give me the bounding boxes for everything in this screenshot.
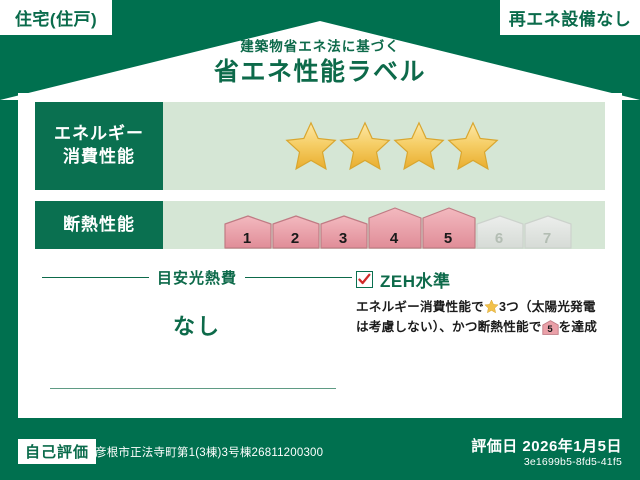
star-icon (447, 120, 499, 172)
insulation-level-number: 5 (421, 231, 475, 246)
badge-renewable-energy: 再エネ設備なし (500, 0, 640, 35)
zeh-star-count: 3つ（太陽光発電 (499, 300, 596, 314)
insulation-level-number: 6 (475, 231, 523, 246)
zeh-desc-part3: を達成 (559, 320, 597, 334)
house-icon-inline: 5 (542, 320, 559, 335)
row-energy-label: エネルギー 消費性能 (35, 102, 163, 190)
row-energy-body (163, 102, 605, 190)
insulation-level-number: 3 (319, 231, 367, 246)
zeh-desc-part2: は考慮しない）、かつ断熱性能で (356, 320, 542, 334)
star-icon-inline (484, 299, 499, 314)
insulation-level-2: 2 (271, 215, 319, 249)
zeh-description: エネルギー消費性能で3つ（太陽光発電は考慮しない）、かつ断熱性能で5を達成 (356, 298, 608, 337)
badge-building-type: 住宅(住戸) (0, 0, 112, 35)
cost-rule-right (245, 277, 352, 278)
insulation-level-7: 7 (523, 215, 571, 249)
utility-cost-value: なし (42, 309, 352, 341)
lower-section: 目安光熱費 なし ZEH水準 エネルギー消費性能で3つ（太陽光発電は考慮しない）… (18, 263, 622, 418)
insulation-level-number: 2 (271, 231, 319, 246)
insulation-level-number: 1 (223, 231, 271, 246)
evaluation-date: 評価日 2026年1月5日 (471, 435, 622, 456)
zeh-checkbox[interactable] (356, 271, 373, 288)
zeh-title: ZEH水準 (380, 267, 451, 292)
row-insulation-body: 1234567 (163, 201, 605, 249)
zeh-block: ZEH水準 エネルギー消費性能で3つ（太陽光発電は考慮しない）、かつ断熱性能で5… (356, 267, 608, 337)
label-card: エネルギー 消費性能 断熱性能 1234567 目安光熱費 なし (18, 93, 622, 418)
row-energy-label-line2: 消費性能 (63, 146, 135, 169)
zeh-header: ZEH水準 (356, 267, 608, 292)
property-address: 彦根市正法寺町第1(3棟)3号棟26811200300 (95, 444, 323, 460)
check-icon (358, 273, 371, 286)
row-insulation-performance: 断熱性能 1234567 (35, 201, 605, 249)
footer-bar: 自己評価 彦根市正法寺町第1(3棟)3号棟26811200300 評価日 202… (0, 425, 640, 480)
insulation-level-5: 5 (421, 207, 475, 249)
insulation-level-number: 7 (523, 231, 571, 246)
insulation-scale: 1234567 (163, 201, 571, 249)
self-evaluation-badge: 自己評価 (18, 439, 96, 464)
house-icon-level: 5 (542, 325, 559, 335)
evaluation-id: 3e1699b5-8fd5-41f5 (524, 456, 622, 468)
star-icon (339, 120, 391, 172)
utility-cost-title: 目安光熱費 (157, 267, 237, 288)
insulation-level-6: 6 (475, 215, 523, 249)
utility-cost-header: 目安光熱費 (42, 267, 352, 288)
star-icon (285, 120, 337, 172)
insulation-level-1: 1 (223, 215, 271, 249)
star-rating (163, 120, 499, 172)
cost-rule-left (42, 277, 149, 278)
row-energy-performance: エネルギー 消費性能 (35, 102, 605, 190)
insulation-level-number: 4 (367, 231, 421, 246)
insulation-level-4: 4 (367, 207, 421, 249)
star-icon (393, 120, 445, 172)
row-insulation-label: 断熱性能 (35, 201, 163, 249)
cost-bottom-divider (50, 388, 336, 389)
zeh-desc-part1: エネルギー消費性能で (356, 300, 484, 314)
row-energy-label-line1: エネルギー (54, 123, 144, 146)
insulation-level-3: 3 (319, 215, 367, 249)
